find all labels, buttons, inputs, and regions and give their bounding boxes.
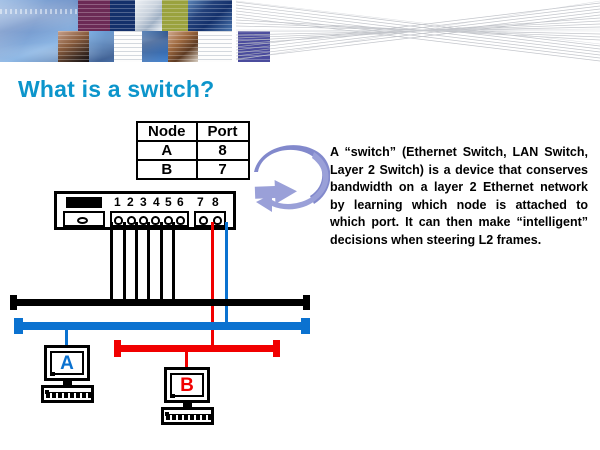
port-jack-4[interactable] [151, 216, 160, 225]
port-label-8: 8 [212, 196, 219, 208]
banner-tile-hands-photo [168, 31, 198, 62]
banner-tile-device-photo [188, 0, 232, 31]
mac-address-table: Node Port A 8 B 7 [136, 121, 250, 180]
column-header-node: Node [138, 123, 197, 141]
cell-port-a: 8 [197, 141, 248, 160]
node-label-b: B [180, 376, 194, 395]
chassis-node-a [41, 385, 94, 403]
table-row: B 7 [138, 160, 248, 178]
port-label-3: 3 [140, 196, 147, 208]
port-label-6: 6 [177, 196, 184, 208]
port-label-7: 7 [197, 196, 204, 208]
port-jack-6[interactable] [176, 216, 185, 225]
red-segment-bus [114, 345, 280, 352]
banner-fan-lines [236, 0, 600, 62]
header-banner [0, 0, 600, 62]
cable-port-2 [123, 222, 126, 303]
port-number-labels-bank-a: 1 2 3 4 5 6 [110, 196, 189, 209]
banner-tile-purple [78, 0, 110, 31]
cable-port-5 [160, 222, 163, 303]
bus-terminator-left [114, 340, 121, 357]
bus-terminator-left [10, 295, 17, 310]
bus-terminator-right [273, 340, 280, 357]
page-title: What is a switch? [18, 76, 214, 103]
description-paragraph: A “switch” (Ethernet Switch, LAN Switch,… [330, 144, 588, 249]
port-label-2: 2 [127, 196, 134, 208]
screen-node-a: A [50, 351, 84, 375]
cable-port-3 [135, 222, 138, 303]
cable-port-4 [147, 222, 150, 303]
banner-tile-darkblue [110, 0, 135, 31]
cable-port-1 [110, 222, 113, 303]
banner-tile-person-phone-photo [58, 31, 89, 62]
power-led-icon [77, 217, 88, 224]
switch-display-panel [66, 197, 102, 208]
banner-tile-white-a [114, 31, 142, 62]
screen-node-b: B [170, 373, 204, 397]
monitor-foot-a [50, 372, 55, 376]
port-label-5: 5 [165, 196, 172, 208]
blue-segment-bus [14, 322, 310, 330]
port-jack-1[interactable] [114, 216, 123, 225]
port-bank-7-8 [194, 211, 226, 227]
bus-terminator-right [303, 295, 310, 310]
cable-port-7-to-red-bus [211, 222, 214, 352]
ethernet-switch-device: 1 2 3 4 5 6 7 8 [54, 191, 236, 230]
cell-node-a: A [138, 141, 197, 160]
port-number-labels-bank-b: 7 8 [194, 196, 226, 209]
curved-arrow-icon [252, 142, 330, 218]
bus-terminator-left [14, 318, 23, 334]
monitor-foot-b [170, 394, 175, 398]
cable-port-8-to-blue-bus [225, 222, 228, 330]
banner-tile-keyboard-photo [135, 0, 162, 31]
drop-cable-node-b [185, 352, 188, 368]
port-label-1: 1 [114, 196, 121, 208]
cable-port-6 [172, 222, 175, 303]
table-header-row: Node Port [138, 123, 248, 141]
column-header-port: Port [197, 123, 248, 141]
port-label-4: 4 [153, 196, 160, 208]
port-jack-7[interactable] [199, 216, 208, 225]
banner-tile-white-b [198, 31, 232, 62]
black-segment-bus [10, 299, 310, 306]
bus-terminator-right [301, 318, 310, 334]
chassis-node-b [161, 407, 214, 425]
node-label-a: A [60, 354, 74, 373]
cell-port-b: 7 [197, 160, 248, 178]
table-row: A 8 [138, 141, 248, 160]
port-jack-8[interactable] [213, 216, 222, 225]
switch-power-bay [63, 211, 105, 227]
cell-node-b: B [138, 160, 197, 178]
banner-tile-olive [162, 0, 188, 31]
drop-cable-node-a [65, 330, 68, 346]
chassis-vents-a [46, 392, 91, 398]
chassis-vents-b [166, 414, 211, 420]
